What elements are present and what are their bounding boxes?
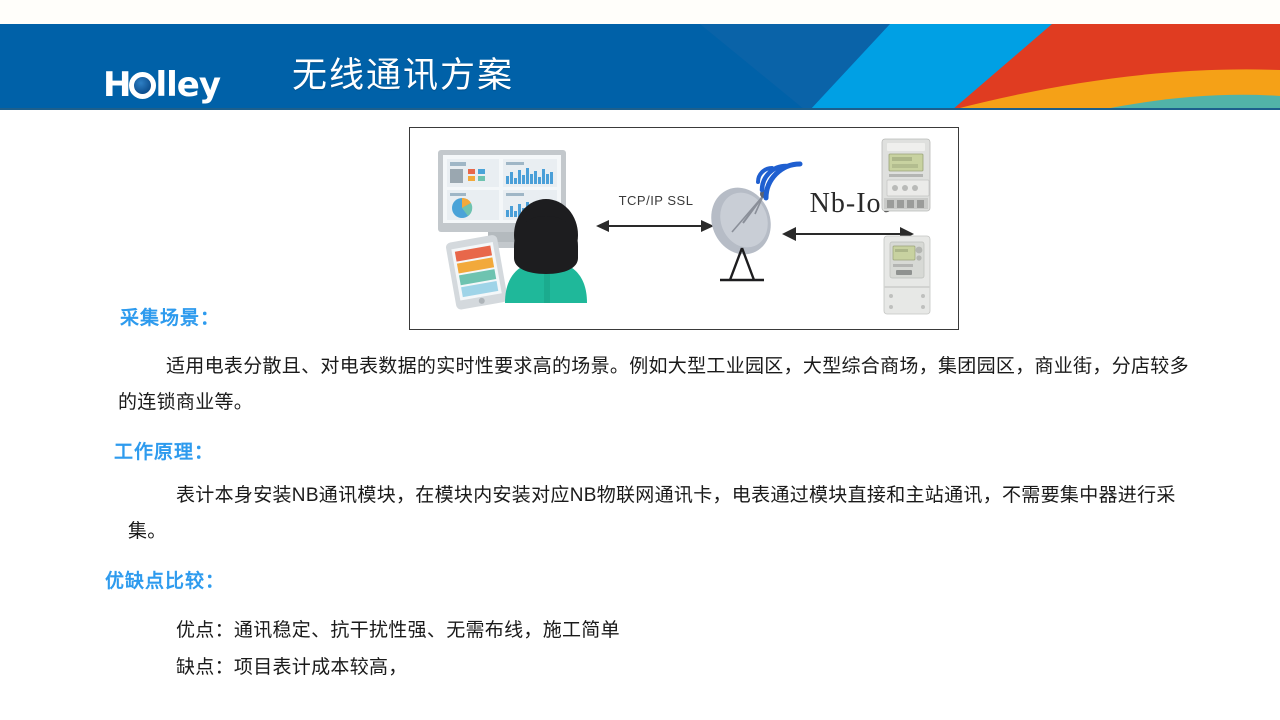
satellite-dish-illustration (701, 164, 800, 280)
operator-workstation-illustration (438, 150, 587, 310)
header-bottom-rule (0, 108, 1280, 110)
logo-wordmark: Hlley (103, 66, 265, 104)
holley-tech-logo: Hlley TECH 华立科技 (103, 66, 265, 110)
section-heading-comparison: 优缺点比较： (105, 566, 225, 593)
comparison-cons-line: 缺点：项目表计成本较高， (176, 652, 408, 679)
smart-meter-bottom-illustration (884, 236, 930, 314)
logo-wordmark-left: H (103, 65, 130, 105)
svg-text:Nb-Iot: Nb-Iot (810, 188, 891, 219)
section-heading-principle: 工作原理： (114, 437, 214, 464)
comparison-pros-line: 优点：通讯稳定、抗干扰性强、无需布线，施工简单 (176, 615, 620, 642)
svg-text:TCP/IP SSL: TCP/IP SSL (619, 193, 694, 208)
slide-header-band: Hlley TECH 华立科技 (0, 24, 1280, 110)
section-paragraph-scene: 适用电表分散且、对电表数据的实时性要求高的场景。例如大型工业园区，大型综合商场，… (118, 349, 1200, 421)
section-paragraph-principle: 表计本身安装NB通讯模块，在模块内安装对应NB物联网通讯卡，电表通过模块直接和主… (128, 478, 1203, 550)
smart-meter-top-illustration (882, 139, 930, 211)
section-heading-scene: 采集场景： (120, 303, 220, 330)
tcpip-ssl-link: TCP/IP SSL (596, 193, 714, 232)
logo-wordmark-right: lley (155, 65, 220, 105)
header-decorative-swoosh (700, 24, 1280, 110)
top-margin-strip (0, 0, 1280, 24)
logo-o-icon (129, 72, 156, 99)
wireless-topology-diagram: TCP/IP SSL Nb-Iot (409, 127, 959, 330)
page-title: 无线通讯方案 (292, 47, 514, 98)
